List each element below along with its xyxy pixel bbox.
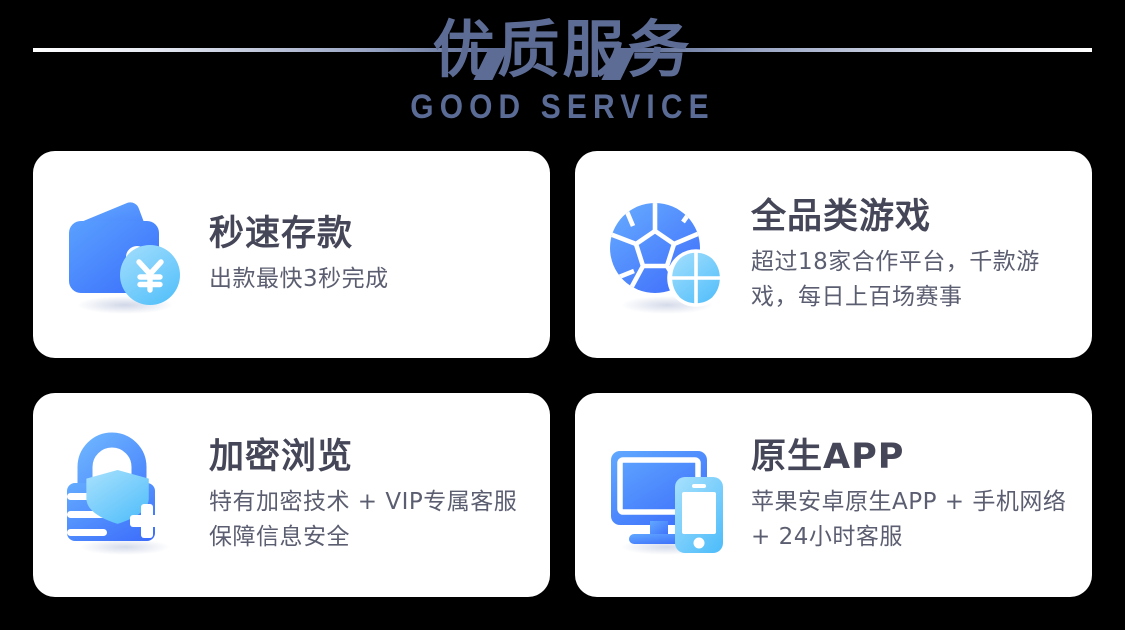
feature-card-text: 原生APP 苹果安卓原生APP + 手机网络 + 24小时客服: [735, 435, 1070, 555]
feature-card-games[interactable]: 全品类游戏 超过18家合作平台，千款游戏，每日上百场赛事: [575, 151, 1092, 358]
feature-card-title: 秒速存款: [209, 212, 528, 256]
feature-card-title: 原生APP: [751, 435, 1070, 479]
wallet-icon: [61, 189, 193, 321]
feature-card-title: 全品类游戏: [751, 195, 1070, 239]
page-header: 优质服务 GOOD SERVICE: [0, 0, 1125, 146]
feature-card-native-app[interactable]: 原生APP 苹果安卓原生APP + 手机网络 + 24小时客服: [575, 393, 1092, 597]
page-title: 优质服务: [0, 0, 1125, 90]
feature-card-encryption[interactable]: 加密浏览 特有加密技术 + VIP专属客服保障信息安全: [33, 393, 550, 597]
page-subtitle: GOOD SERVICE: [68, 88, 1058, 127]
feature-card-text: 全品类游戏 超过18家合作平台，千款游戏，每日上百场赛事: [735, 195, 1070, 315]
feature-card-text: 加密浏览 特有加密技术 + VIP专属客服保障信息安全: [193, 435, 528, 555]
feature-card-subtitle: 特有加密技术 + VIP专属客服保障信息安全: [209, 485, 528, 555]
feature-card-subtitle: 出款最快3秒完成: [209, 262, 528, 297]
feature-card-grid: 秒速存款 出款最快3秒完成: [33, 151, 1092, 597]
monitor-phone-icon: [603, 429, 735, 561]
feature-card-title: 加密浏览: [209, 435, 528, 479]
feature-card-subtitle: 超过18家合作平台，千款游戏，每日上百场赛事: [751, 245, 1070, 315]
feature-card-deposit[interactable]: 秒速存款 出款最快3秒完成: [33, 151, 550, 358]
feature-card-text: 秒速存款 出款最快3秒完成: [193, 212, 528, 297]
header-title-block: 优质服务 GOOD SERVICE: [0, 0, 1125, 127]
feature-card-subtitle: 苹果安卓原生APP + 手机网络 + 24小时客服: [751, 485, 1070, 555]
sports-balls-icon: [603, 189, 735, 321]
lock-shield-icon: [61, 429, 193, 561]
